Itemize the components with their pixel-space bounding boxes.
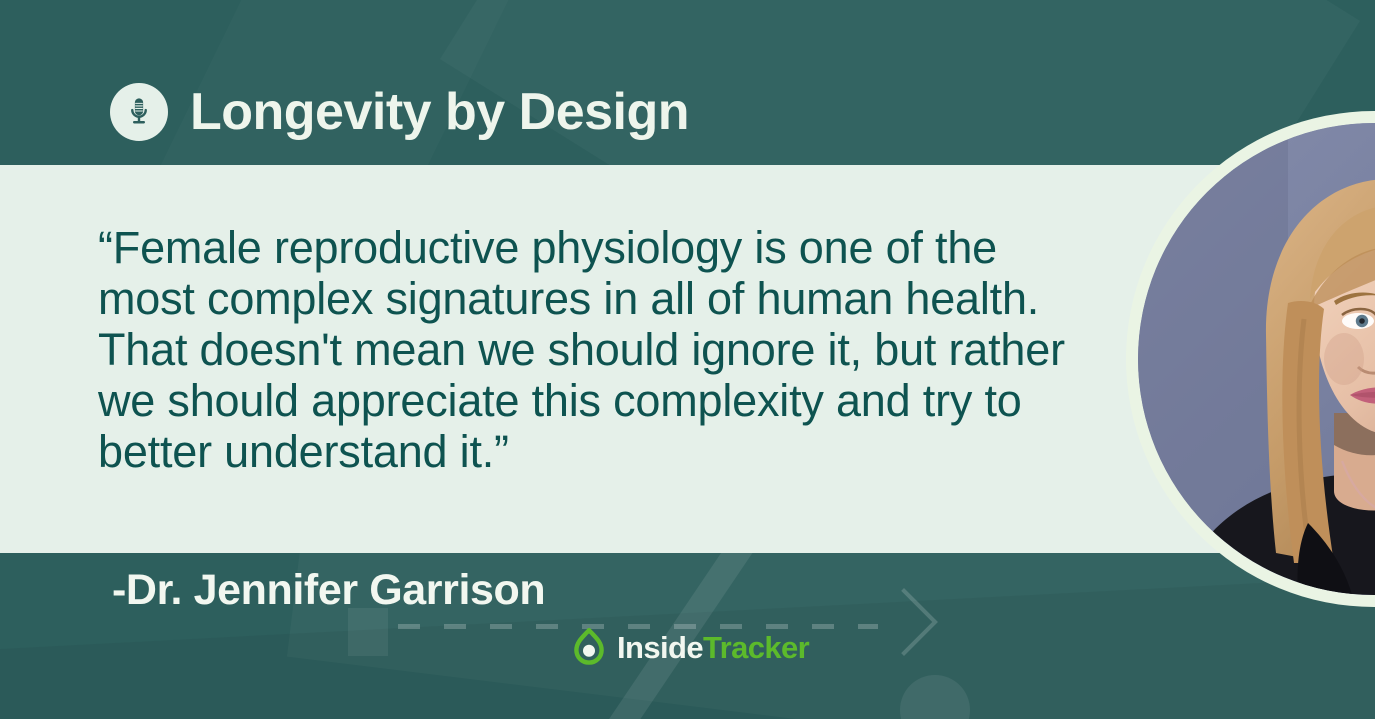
decorative-circle	[900, 675, 970, 719]
brand-wordmark: InsideTracker	[617, 632, 809, 663]
speaker-portrait	[1126, 111, 1375, 621]
podcast-quote-card: Longevity by Design “Female reproductive…	[0, 0, 1375, 719]
inside-tracker-droplet-icon	[572, 627, 606, 667]
microphone-icon	[110, 83, 168, 141]
podcast-header: Longevity by Design	[110, 83, 689, 141]
brand-name-tracker: Tracker	[703, 630, 809, 665]
inside-tracker-logo: InsideTracker	[572, 627, 809, 667]
brand-name-inside: Inside	[617, 630, 703, 665]
page-title: Longevity by Design	[190, 86, 689, 138]
avatar	[1138, 123, 1375, 595]
quote-text: “Female reproductive physiology is one o…	[98, 222, 1083, 477]
speaker-attribution: -Dr. Jennifer Garrison	[112, 566, 545, 615]
